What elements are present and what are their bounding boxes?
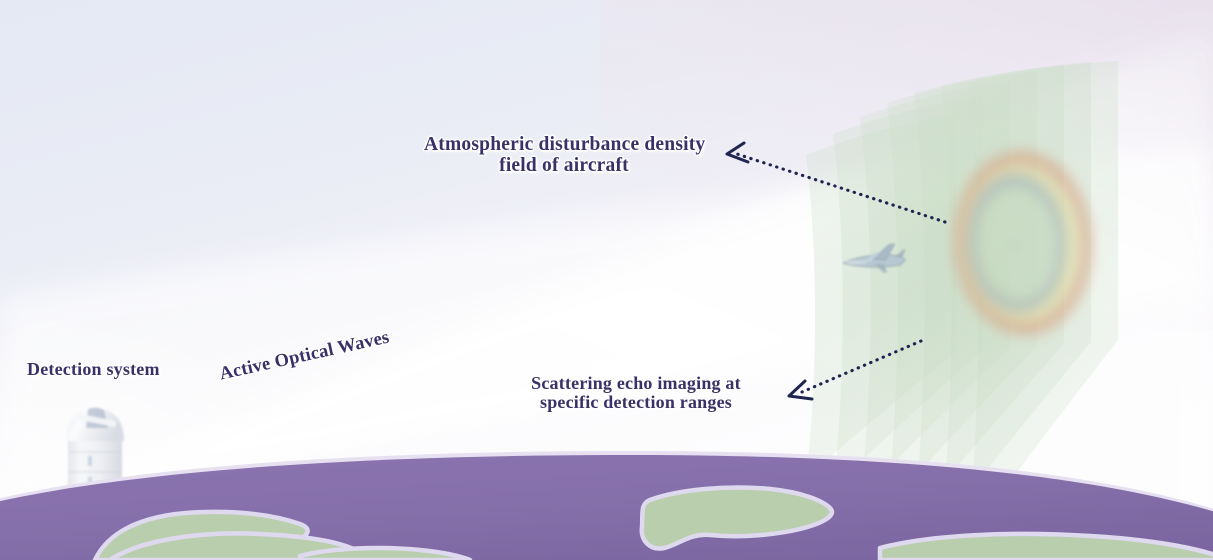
diagram-canvas: Atmospheric disturbance density field of… xyxy=(0,0,1213,560)
earth-layer xyxy=(0,0,1213,560)
